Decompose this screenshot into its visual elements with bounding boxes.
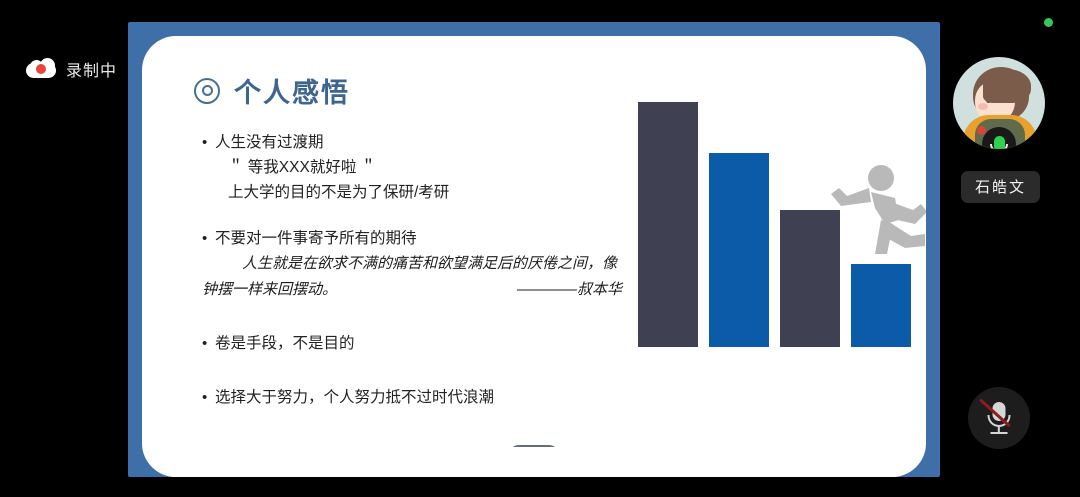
quote-line: 钟摆一样来回摆动。	[202, 277, 337, 303]
bullet-text: 卷是手段，不是目的	[215, 332, 355, 356]
cloud-record-icon	[26, 58, 56, 80]
chart-bar	[638, 102, 698, 347]
status-dot-icon	[1044, 18, 1053, 27]
quote-line: 人生就是在欲求不满的痛苦和欲望满足后的厌倦之间，像	[242, 251, 632, 277]
bullet-glyph: •	[202, 332, 215, 355]
bullet-item: • 不要对一件事寄予所有的期待	[202, 227, 632, 251]
page-title: 个人感悟	[234, 71, 350, 110]
bullet-text: 选择大于努力，个人努力抵不过时代浪潮	[215, 386, 494, 410]
chart-bar	[709, 153, 769, 347]
quote-attribution: ————叔本华	[517, 277, 622, 303]
meeting-screen: 录制中 个人感悟 • 人生没有过渡期 ＂ 等我XXX就好啦 ＂ 上大学的目的不是…	[0, 0, 1080, 497]
bullet-item: • 选择大于努力，个人努力抵不过时代浪潮	[202, 386, 632, 410]
sub-text: ＂ 等我XXX就好啦 ＂	[228, 155, 632, 180]
recording-indicator: 录制中	[26, 57, 117, 81]
avatar	[953, 57, 1045, 149]
bullet-item: • 人生没有过渡期	[202, 131, 632, 155]
quote-block: 人生就是在欲求不满的痛苦和欲望满足后的厌倦之间，像 钟摆一样来回摆动。 ————…	[202, 251, 632, 302]
slide-body: • 人生没有过渡期 ＂ 等我XXX就好啦 ＂ 上大学的目的不是为了保研/考研 •…	[202, 131, 632, 410]
sub-text: 上大学的目的不是为了保研/考研	[228, 180, 632, 205]
double-circle-icon	[194, 78, 220, 104]
bullet-text: 不要对一件事寄予所有的期待	[215, 227, 417, 251]
bullet-glyph: •	[202, 386, 215, 409]
mute-button[interactable]	[968, 387, 1030, 449]
recording-label: 录制中	[66, 57, 117, 81]
bar-chart-graphic	[629, 82, 909, 347]
participant-name: 石皓文	[961, 171, 1040, 203]
page-indicator: 1/11	[508, 445, 560, 468]
bullet-glyph: •	[202, 131, 215, 154]
running-figure-icon	[825, 162, 926, 262]
bullet-text: 人生没有过渡期	[215, 131, 324, 155]
slide-card: 个人感悟 • 人生没有过渡期 ＂ 等我XXX就好啦 ＂ 上大学的目的不是为了保研…	[142, 36, 926, 477]
chart-bar	[851, 264, 911, 347]
bullet-item: • 卷是手段，不是目的	[202, 332, 632, 356]
slide-frame[interactable]: 个人感悟 • 人生没有过渡期 ＂ 等我XXX就好啦 ＂ 上大学的目的不是为了保研…	[128, 22, 940, 477]
bullet-glyph: •	[202, 227, 215, 250]
participant-tile[interactable]: 石皓文	[953, 57, 1048, 203]
slide-title-row: 个人感悟	[194, 71, 350, 110]
